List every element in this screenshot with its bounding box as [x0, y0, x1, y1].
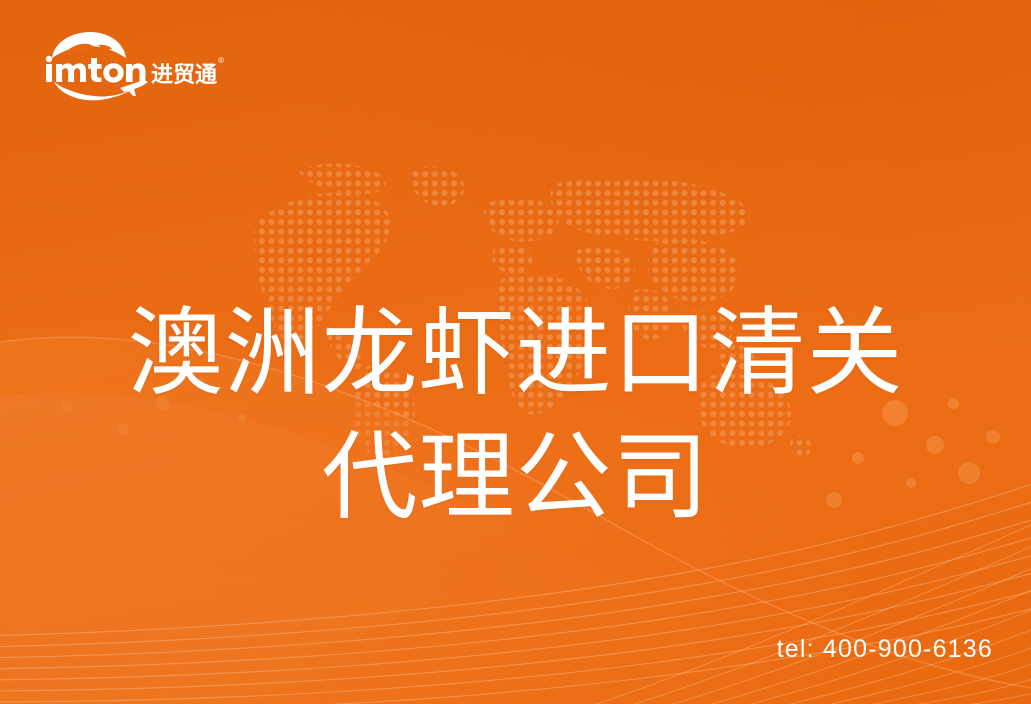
contact-phone[interactable]: tel: 400-900-6136: [777, 635, 993, 664]
logo-wordmark: [46, 56, 146, 83]
logo-trademark-icon: ®: [218, 56, 224, 65]
imton-logo[interactable]: 进贸通 ®: [38, 30, 228, 102]
globe-arc-icon: [52, 32, 126, 58]
page-title: 澳洲龙虾进口清关 代理公司: [0, 292, 1031, 540]
promo-banner: 进贸通 ® 澳洲龙虾进口清关 代理公司 tel: 400-900-6136: [0, 0, 1031, 704]
logo-chinese-name: 进贸通: [151, 63, 217, 88]
headline-line-1: 澳洲龙虾进口清关: [0, 292, 1031, 416]
headline-line-2: 代理公司: [0, 416, 1031, 540]
